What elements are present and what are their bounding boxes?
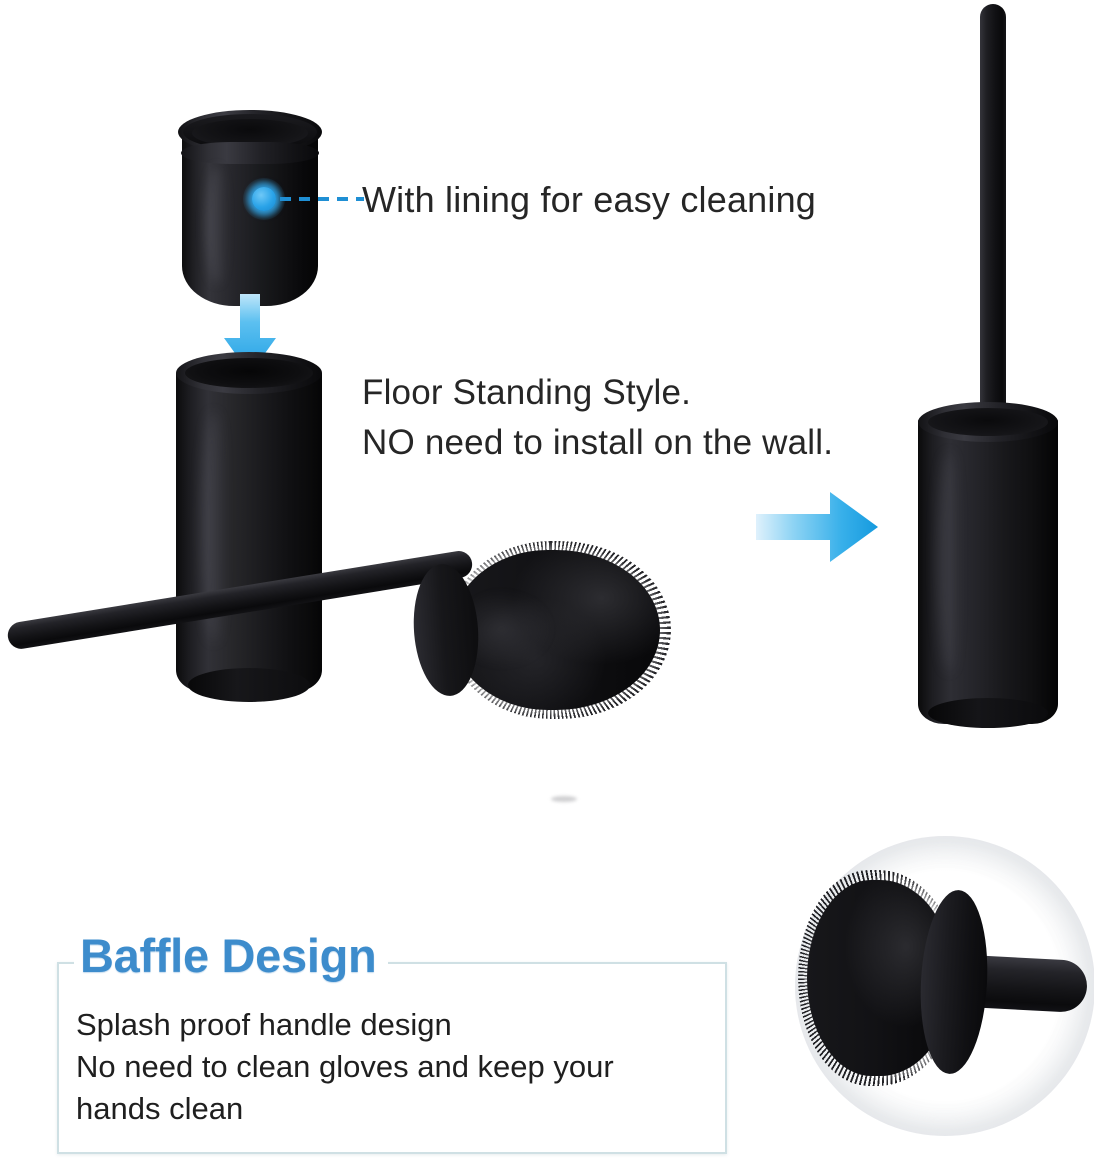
assembled-holder-base <box>928 698 1048 728</box>
image-speck <box>551 796 577 802</box>
baffle-design-line-3: hands clean <box>76 1088 696 1130</box>
floor-standing-text: Floor Standing Style. NO need to install… <box>362 368 982 468</box>
callout-lining-text: With lining for easy cleaning <box>362 178 816 222</box>
brush-handle-rod <box>6 549 474 651</box>
assembled-holder-opening <box>928 408 1048 436</box>
arrow-right-icon <box>756 486 880 568</box>
baffle-design-line-1: Splash proof handle design <box>76 1004 696 1046</box>
floor-standing-line-2: NO need to install on the wall. <box>362 418 982 468</box>
product-infographic: With lining for easy cleaning Floor Stan… <box>0 0 1094 1167</box>
toilet-brush <box>0 520 680 750</box>
assembled-handle-rod <box>980 4 1006 436</box>
callout-leader-line <box>280 197 364 201</box>
assembled-specular-highlight <box>938 452 960 672</box>
baffle-design-body: Splash proof handle design No need to cl… <box>76 1004 696 1130</box>
baffle-design-title: Baffle Design <box>74 928 388 983</box>
floor-standing-line-1: Floor Standing Style. <box>362 368 982 418</box>
liner-specular-highlight <box>206 166 228 284</box>
baffle-detail-inset <box>795 836 1094 1136</box>
holder-opening <box>185 358 313 388</box>
brush-bristle-head <box>452 550 660 710</box>
callout-dot-icon <box>252 187 276 211</box>
assembled-brush-and-holder <box>908 4 1068 734</box>
baffle-design-line-2: No need to clean gloves and keep your <box>76 1046 696 1088</box>
liner-rim-band <box>181 142 319 164</box>
